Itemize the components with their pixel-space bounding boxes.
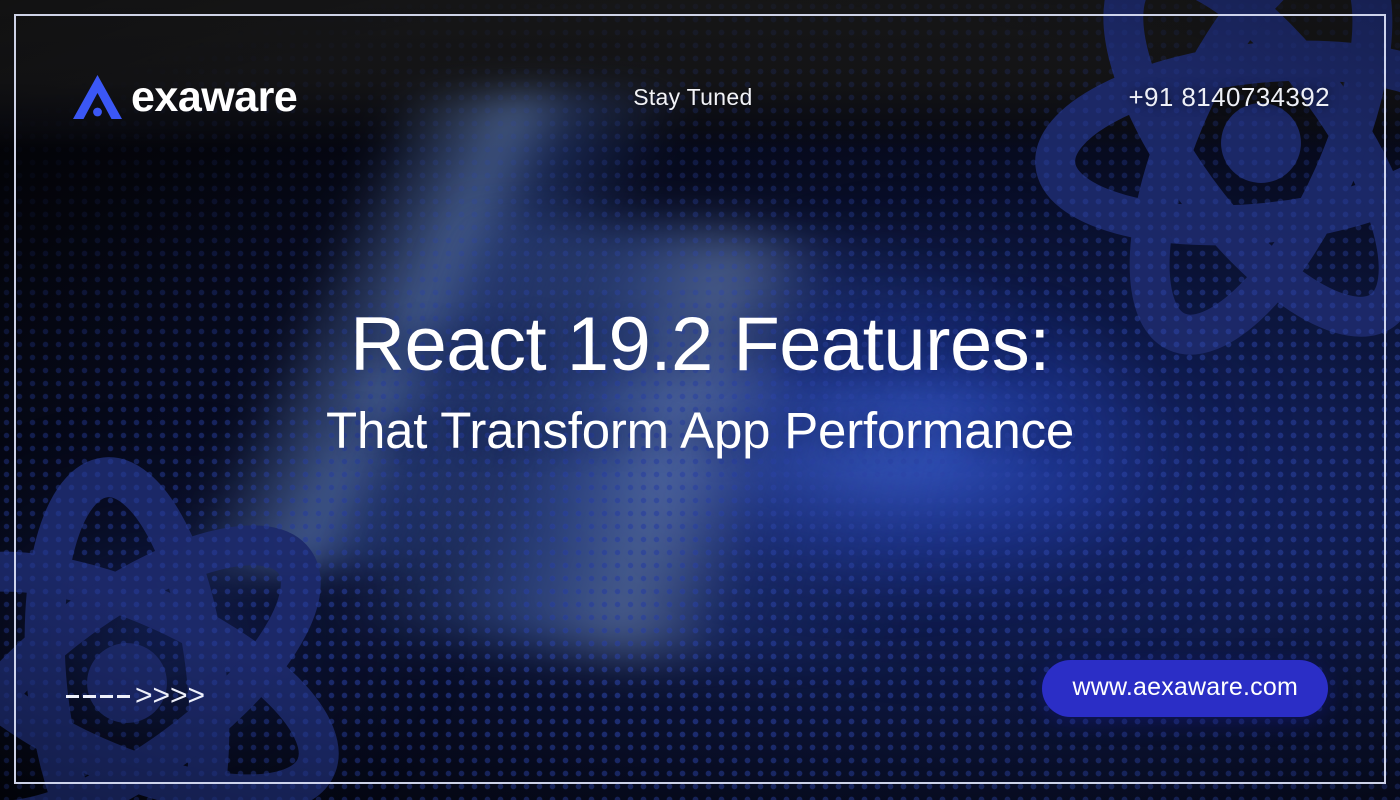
aexaware-chevron-a-icon — [70, 71, 126, 123]
header-bar: exaware Stay Tuned +91 8140734392 — [0, 52, 1400, 142]
page-title: React 19.2 Features: — [0, 305, 1400, 386]
arrow-dash — [100, 695, 113, 698]
headline-block: React 19.2 Features: That Transform App … — [0, 305, 1400, 459]
website-button[interactable]: www.aexaware.com — [1042, 660, 1328, 717]
page-subtitle: That Transform App Performance — [0, 402, 1400, 459]
arrow-dash — [83, 695, 96, 698]
arrow-indicator: >>>> — [66, 678, 205, 714]
arrow-dash — [66, 695, 79, 698]
chevron-right-icon-group: >>>> — [135, 681, 205, 711]
header-tagline: Stay Tuned — [257, 84, 1128, 111]
arrow-dash — [117, 695, 130, 698]
poster-canvas: exaware Stay Tuned +91 8140734392 React … — [0, 0, 1400, 800]
header-phone-number[interactable]: +91 8140734392 — [1128, 82, 1330, 113]
